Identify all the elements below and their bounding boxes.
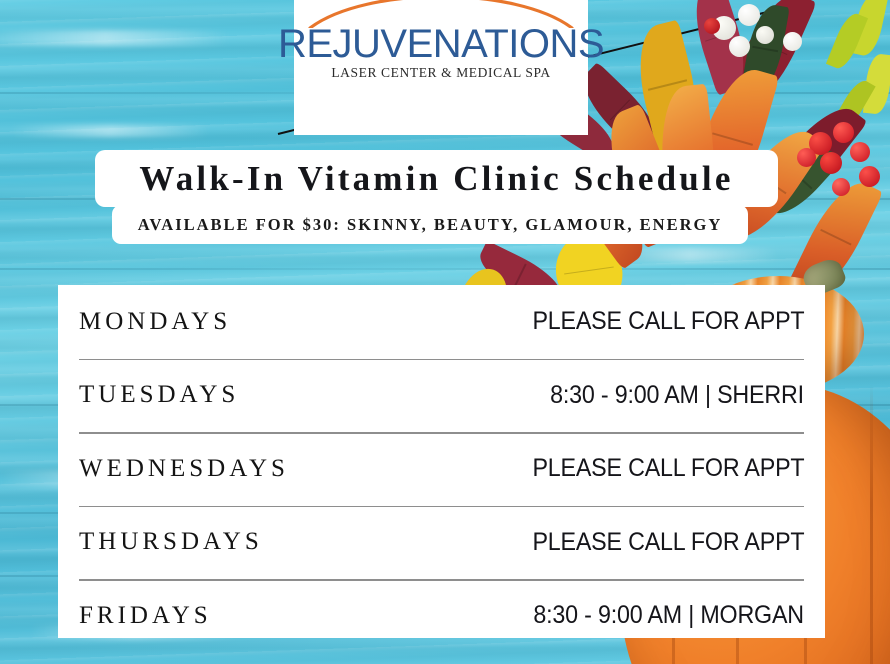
berry-red — [850, 142, 870, 162]
table-row: FRIDAYS 8:30 - 9:00 AM | MORGAN — [79, 579, 804, 653]
wood-streak — [10, 125, 210, 137]
berry-red — [832, 178, 850, 196]
subtitle-banner: AVAILABLE FOR $30: SKINNY, BEAUTY, GLAMO… — [112, 205, 748, 244]
table-row: MONDAYS PLEASE CALL FOR APPT — [79, 285, 804, 359]
brand-tagline: LASER CENTER & MEDICAL SPA — [331, 65, 550, 81]
title-banner: Walk-In Vitamin Clinic Schedule — [95, 150, 778, 207]
brand-logo-card: REJUVENATIONS LASER CENTER & MEDICAL SPA — [294, 0, 588, 135]
poster: REJUVENATIONS LASER CENTER & MEDICAL SPA… — [0, 0, 890, 664]
berry-white — [729, 36, 750, 57]
schedule-time: 8:30 - 9:00 AM | SHERRI — [550, 381, 804, 410]
table-row: TUESDAYS 8:30 - 9:00 AM | SHERRI — [79, 359, 804, 433]
berry-red — [704, 18, 720, 34]
berry-red — [833, 122, 854, 143]
schedule-time: PLEASE CALL FOR APPT — [532, 307, 804, 336]
schedule-day: TUESDAYS — [79, 381, 239, 409]
schedule-card: MONDAYS PLEASE CALL FOR APPT TUESDAYS 8:… — [58, 285, 825, 638]
schedule-day: FRIDAYS — [79, 602, 212, 630]
schedule-time: PLEASE CALL FOR APPT — [532, 454, 804, 483]
schedule-time: PLEASE CALL FOR APPT — [532, 528, 804, 557]
brand-name: REJUVENATIONS — [278, 24, 604, 64]
berry-white — [738, 4, 760, 26]
berry-red — [797, 148, 816, 167]
page-title: Walk-In Vitamin Clinic Schedule — [139, 159, 733, 199]
schedule-day: WEDNESDAYS — [79, 455, 289, 483]
schedule-time: 8:30 - 9:00 AM | MORGAN — [533, 601, 804, 630]
berry-red — [820, 152, 842, 174]
table-row: THURSDAYS PLEASE CALL FOR APPT — [79, 506, 804, 580]
berry-red — [859, 166, 880, 187]
schedule-day: THURSDAYS — [79, 528, 263, 556]
wood-streak — [0, 30, 230, 46]
page-subtitle: AVAILABLE FOR $30: SKINNY, BEAUTY, GLAMO… — [138, 215, 723, 235]
table-row: WEDNESDAYS PLEASE CALL FOR APPT — [79, 432, 804, 506]
schedule-day: MONDAYS — [79, 308, 231, 336]
berry-white — [756, 26, 774, 44]
berry-white — [783, 32, 802, 51]
